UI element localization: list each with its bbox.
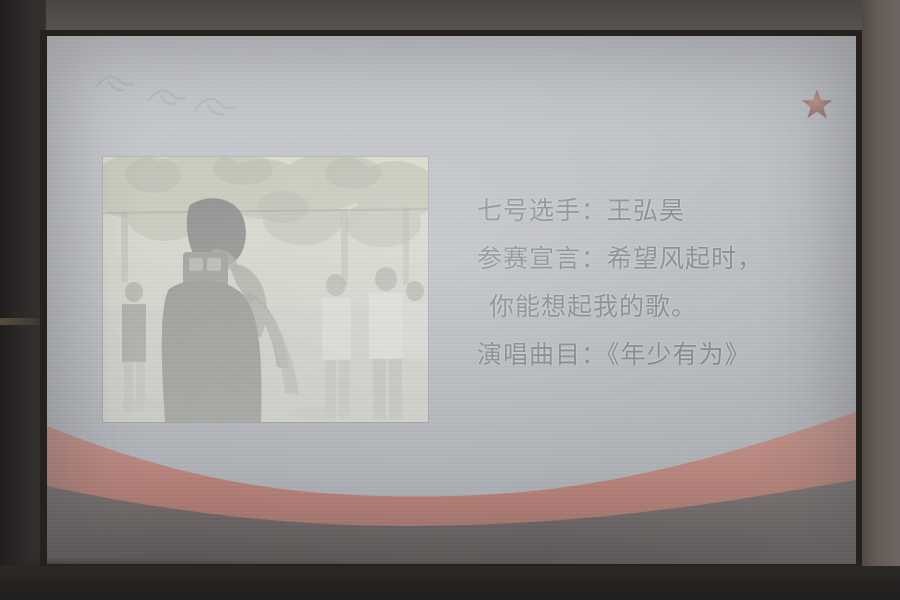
five-pointed-star-icon [800, 88, 834, 122]
projector-screen: 七号选手：王弘昊 参赛宣言：希望风起时， 你能想起我的歌。 演唱曲目：《年少有为… [47, 36, 856, 564]
floor-shadow [0, 566, 900, 600]
slide-text-block: 七号选手：王弘昊 参赛宣言：希望风起时， 你能想起我的歌。 演唱曲目：《年少有为… [477, 188, 837, 380]
room-scene: 七号选手：王弘昊 参赛宣言：希望风起时， 你能想起我的歌。 演唱曲目：《年少有为… [0, 0, 900, 600]
contestant-photo [103, 157, 428, 422]
slide-line-declaration: 参赛宣言：希望风起时， [477, 236, 837, 284]
flying-doves-icon [87, 54, 247, 124]
right-wall-area [862, 0, 900, 600]
slide-line-contestant: 七号选手：王弘昊 [477, 188, 837, 236]
slide-line-declaration-cont: 你能想起我的歌。 [477, 284, 837, 332]
slide-line-song: 演唱曲目：《年少有为》 [477, 332, 837, 380]
